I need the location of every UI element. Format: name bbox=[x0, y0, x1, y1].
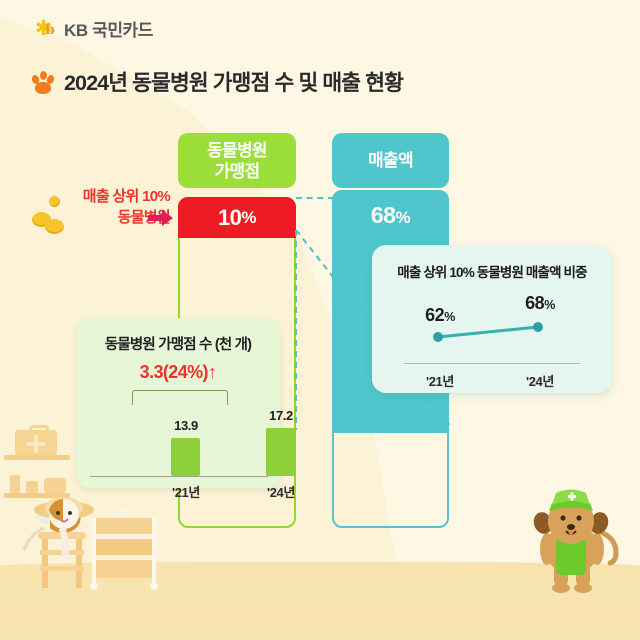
column-header-revenue: 매출액 bbox=[332, 133, 449, 188]
bar-chart-delta: 3.3(24%)↑ bbox=[76, 362, 280, 383]
medical-cart-illustration bbox=[85, 500, 165, 595]
bar-chart-title: 동물병원 가맹점 수 (천 개) bbox=[76, 333, 280, 354]
column-clinics-value-unit: % bbox=[241, 208, 256, 228]
line-chart-axis bbox=[404, 363, 580, 364]
column-header-clinics: 동물병원 가맹점 bbox=[178, 133, 296, 188]
bar-chart-card: 동물병원 가맹점 수 (천 개) 3.3(24%)↑ 13.9 17.2 '21… bbox=[76, 318, 280, 488]
bar-chart-bracket bbox=[132, 390, 228, 405]
infographic-canvas: ✱b KB 국민카드 2024년 동물병원 가맹점 수 및 매출 현황 매출 상… bbox=[0, 0, 640, 640]
dog-nurse-illustration bbox=[512, 487, 630, 599]
bar-category-label-2: '24년 bbox=[257, 482, 305, 501]
bar-value-label-2: 17.2 bbox=[257, 408, 305, 423]
shelf-top bbox=[4, 455, 70, 460]
connector-dashed-top bbox=[296, 197, 334, 199]
column-clinics-value: 10% bbox=[178, 197, 296, 238]
arrow-right-icon bbox=[148, 210, 174, 226]
column-revenue-value: 68% bbox=[332, 202, 449, 229]
bar-1 bbox=[171, 438, 200, 476]
bar-2 bbox=[266, 428, 295, 476]
column-header-revenue-label: 매출액 bbox=[368, 150, 413, 171]
kb-star-icon: ✱b bbox=[34, 17, 58, 41]
column-clinics-value-number: 10 bbox=[218, 205, 241, 231]
page-title-text: 2024년 동물병원 가맹점 수 및 매출 현황 bbox=[64, 66, 403, 97]
line-chart-plot bbox=[372, 245, 612, 393]
bar-category-label-1: '21년 bbox=[162, 482, 210, 501]
page-title: 2024년 동물병원 가맹점 수 및 매출 현황 bbox=[31, 66, 403, 97]
bar-value-label-1: 13.9 bbox=[162, 418, 210, 433]
left-annotation-line1: 매출 상위 10% bbox=[34, 186, 170, 207]
bar-chart-delta-label: 3.3(24%) bbox=[140, 362, 208, 382]
kb-logo-text: KB 국민카드 bbox=[64, 16, 153, 41]
column-header-clinics-line2: 가맹점 bbox=[215, 162, 260, 181]
column-revenue-value-number: 68 bbox=[371, 202, 396, 228]
trend-up-icon: ↑ bbox=[208, 362, 216, 382]
line-category-label-1: '21년 bbox=[410, 371, 470, 390]
line-chart-card: 매출 상위 10% 동물병원 매출액 비중 62% 68% '21년 '24년 bbox=[372, 245, 612, 393]
first-aid-kit-icon bbox=[15, 430, 57, 456]
paw-icon bbox=[31, 71, 55, 95]
kb-logo: ✱b KB 국민카드 bbox=[34, 16, 153, 41]
bar-chart-axis bbox=[90, 476, 268, 477]
column-revenue-value-unit: % bbox=[395, 208, 410, 227]
column-header-clinics-line1: 동물병원 bbox=[207, 141, 267, 160]
line-category-label-2: '24년 bbox=[510, 371, 570, 390]
